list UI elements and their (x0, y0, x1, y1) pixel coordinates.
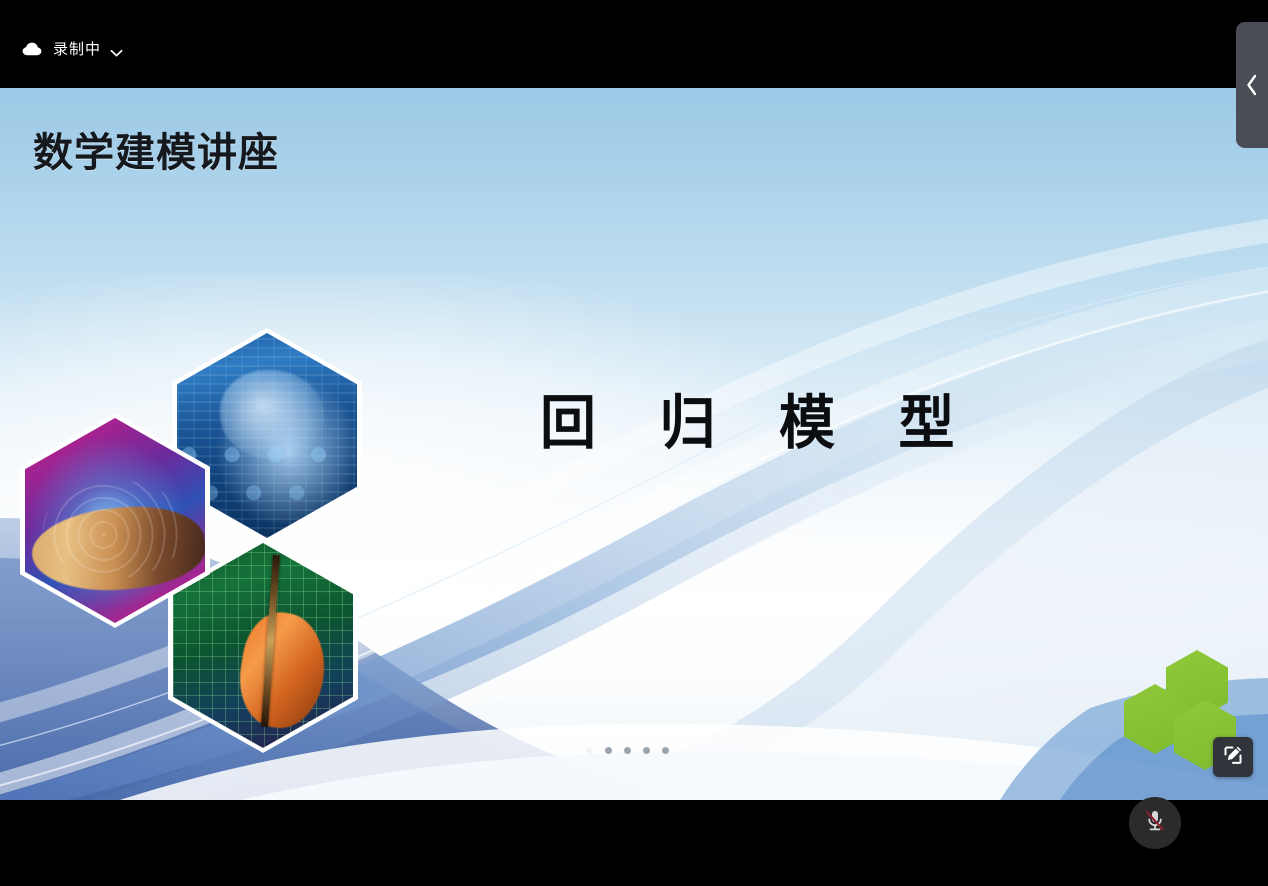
slide-main-heading: 回 归 模 型 (540, 376, 940, 460)
microphone-mute-button[interactable] (1129, 797, 1181, 849)
microphone-muted-icon (1141, 807, 1169, 840)
hexagon-photo-cluster (0, 88, 400, 800)
bottom-toolbar (0, 800, 1268, 886)
recording-status-button[interactable]: 录制中 (18, 36, 127, 62)
pen-annotate-icon (1221, 743, 1245, 772)
cloud-icon (22, 42, 44, 56)
recording-topbar: 录制中 (0, 0, 1268, 88)
slide-pagination-dots[interactable] (586, 747, 669, 754)
annotation-tool-button[interactable] (1213, 737, 1253, 777)
pagination-dot[interactable] (643, 747, 650, 754)
pagination-dot[interactable] (586, 747, 593, 754)
presentation-slide[interactable]: 数学建模讲座 回 归 模 型 (0, 88, 1268, 800)
chevron-left-icon (1245, 73, 1259, 97)
conference-slide-view: 录制中 (0, 0, 1268, 886)
recording-status-label: 录制中 (53, 42, 101, 57)
chevron-down-icon[interactable] (110, 45, 123, 54)
pagination-dot[interactable] (624, 747, 631, 754)
pagination-dot[interactable] (605, 747, 612, 754)
side-panel-toggle-button[interactable] (1236, 22, 1268, 148)
pagination-dot[interactable] (662, 747, 669, 754)
